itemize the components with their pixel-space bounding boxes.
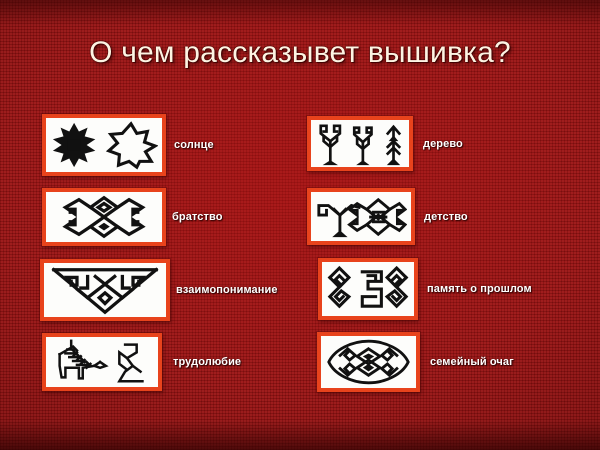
symbol-label-hearth: семейный очаг — [430, 356, 514, 368]
page-title: О чем рассказывет вышивка? — [0, 36, 600, 70]
symbol-item-childhood[interactable]: детство — [307, 188, 468, 245]
symbol-image-memory — [318, 258, 418, 320]
symbol-image-hearth — [317, 332, 420, 392]
symbol-item-tree[interactable]: дерево — [307, 116, 463, 171]
symbol-image-sun — [42, 114, 166, 176]
symbol-label-memory: память о прошлом — [427, 283, 532, 295]
symbol-image-brotherhood — [42, 188, 166, 246]
symbol-label-sun: солнце — [174, 139, 214, 151]
symbol-item-hearth[interactable]: семейный очаг — [317, 332, 514, 392]
symbol-item-memory[interactable]: память о прошлом — [318, 258, 532, 320]
slide-root: О чем рассказывет вышивка? солнце — [0, 0, 600, 450]
symbol-image-understanding — [40, 259, 170, 321]
symbol-label-childhood: детство — [424, 211, 468, 223]
symbol-item-brotherhood[interactable]: братство — [42, 188, 223, 246]
symbol-item-understanding[interactable]: взаимопонимание — [40, 259, 278, 321]
symbol-image-childhood — [307, 188, 415, 245]
symbol-item-diligence[interactable]: трудолюбие — [42, 333, 241, 391]
symbol-label-brotherhood: братство — [172, 211, 223, 223]
symbol-item-sun[interactable]: солнце — [42, 114, 214, 176]
symbol-image-tree — [307, 116, 413, 171]
symbol-label-diligence: трудолюбие — [173, 356, 241, 368]
symbol-label-tree: дерево — [423, 138, 463, 150]
symbol-image-diligence — [42, 333, 162, 391]
symbol-label-understanding: взаимопонимание — [176, 284, 278, 296]
